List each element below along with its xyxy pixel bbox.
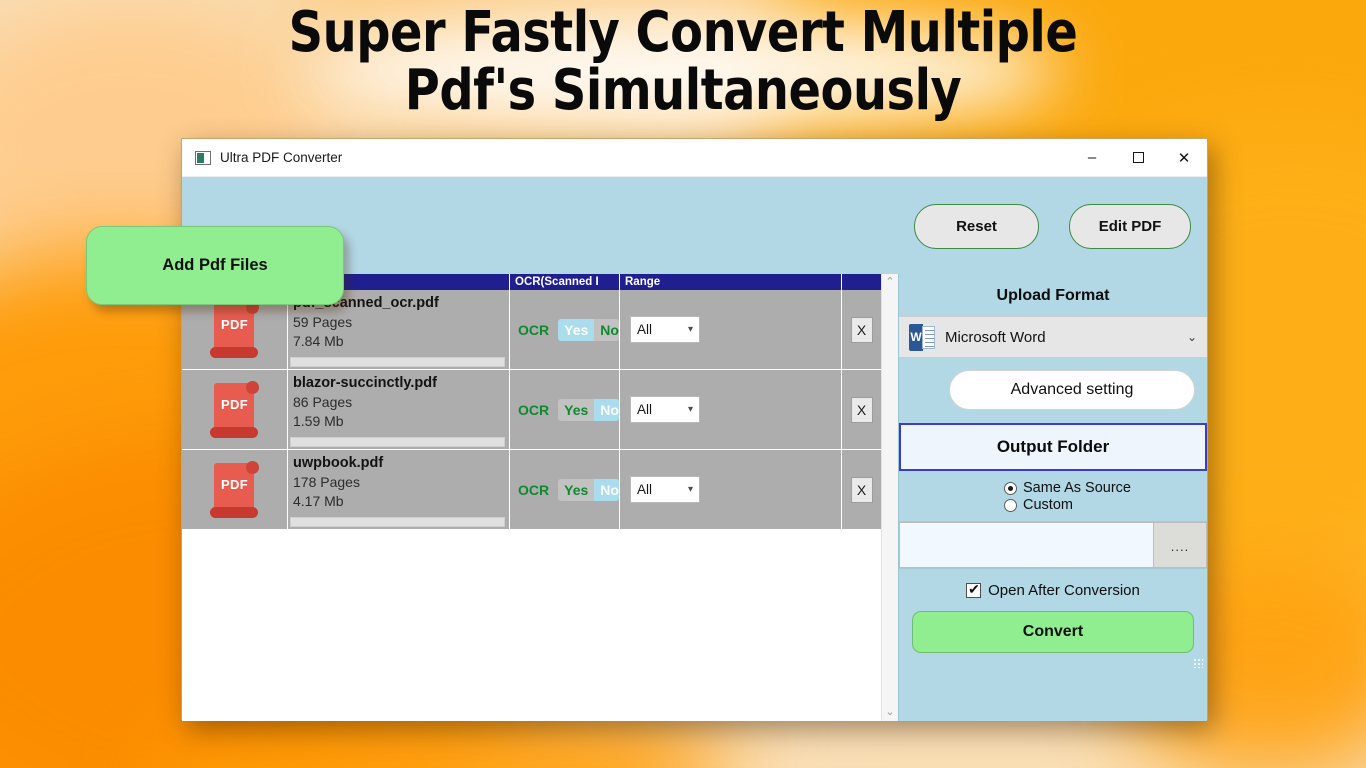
resize-grip[interactable] <box>899 653 1207 671</box>
table-row[interactable]: PDF blazor-succinctly.pdf 86 Pages 1.59 … <box>182 370 881 450</box>
file-info-hscrollbar[interactable] <box>290 357 505 367</box>
convert-button[interactable]: Convert <box>912 611 1194 653</box>
ocr-toggle[interactable]: Yes No <box>558 479 619 501</box>
radio-custom-label: Custom <box>1023 497 1073 513</box>
chevron-down-icon: ⌄ <box>1187 330 1197 344</box>
file-info-hscrollbar[interactable] <box>290 437 505 447</box>
radio-same-label: Same As Source <box>1023 480 1131 496</box>
ocr-no-option[interactable]: No <box>594 399 619 421</box>
output-path-row: .... <box>899 521 1207 569</box>
app-window: Ultra PDF Converter – ✕ Add Pdf Files Re… <box>181 138 1208 720</box>
upload-format-title: Upload Format <box>899 274 1207 316</box>
ocr-cell: OCR Yes No <box>510 290 620 369</box>
ocr-label: OCR <box>518 322 549 338</box>
range-select[interactable]: All ▾ <box>630 396 700 423</box>
pdf-thumbnail-cell: PDF <box>182 450 288 529</box>
ocr-cell: OCR Yes No <box>510 370 620 449</box>
file-pages: 178 Pages <box>293 473 360 492</box>
settings-panel: Upload Format W Microsoft Word ⌄ Advance… <box>898 274 1207 721</box>
range-cell: All ▾ <box>620 450 842 529</box>
window-body: PDF Files FileInfo OCR(Scanned I Range P… <box>182 274 1207 721</box>
ocr-label: OCR <box>518 402 549 418</box>
browse-folder-button[interactable]: .... <box>1154 522 1207 568</box>
window-controls: – ✕ <box>1069 139 1207 177</box>
chevron-down-icon: ▾ <box>688 404 693 415</box>
title-bar: Ultra PDF Converter – ✕ <box>182 139 1207 177</box>
scroll-up-icon[interactable]: ⌃ <box>885 277 894 288</box>
column-header-range[interactable]: Range <box>620 274 842 290</box>
file-pages: 59 Pages <box>293 313 352 332</box>
checkbox-open-after-conversion[interactable] <box>966 583 981 598</box>
word-icon: W <box>909 324 935 351</box>
advanced-setting-button[interactable]: Advanced setting <box>949 370 1195 410</box>
file-grid: PDF Files FileInfo OCR(Scanned I Range P… <box>182 274 881 721</box>
ocr-toggle[interactable]: Yes No <box>558 399 619 421</box>
upload-format-select[interactable]: W Microsoft Word ⌄ <box>899 316 1207 358</box>
radio-icon-unselected[interactable] <box>1004 499 1017 512</box>
remove-row-button[interactable]: X <box>851 397 873 423</box>
chevron-down-icon: ▾ <box>688 484 693 495</box>
pdf-thumbnail-cell: PDF <box>182 370 288 449</box>
scroll-down-icon[interactable]: ⌄ <box>885 707 894 718</box>
upload-format-value: Microsoft Word <box>945 329 1046 346</box>
toolbar: Add Pdf Files Reset Edit PDF <box>182 177 1207 274</box>
range-cell: All ▾ <box>620 370 842 449</box>
pdf-icon-label: PDF <box>208 397 262 412</box>
range-value: All <box>637 402 652 417</box>
pdf-file-icon: PDF <box>208 459 262 521</box>
row-actions-cell: X <box>842 370 881 449</box>
column-header-actions[interactable] <box>842 274 881 290</box>
output-path-input[interactable] <box>899 522 1154 568</box>
column-header-ocr[interactable]: OCR(Scanned I <box>510 274 620 290</box>
file-list-scrollbar[interactable]: ⌃ ⌄ <box>881 274 898 721</box>
ocr-yes-option[interactable]: Yes <box>558 399 594 421</box>
radio-custom[interactable]: Custom <box>1004 497 1207 513</box>
file-name: uwpbook.pdf <box>293 455 383 471</box>
file-info-hscrollbar[interactable] <box>290 517 505 527</box>
file-size: 7.84 Mb <box>293 332 344 351</box>
pdf-icon-label: PDF <box>208 317 262 332</box>
pdf-file-icon: PDF <box>208 299 262 361</box>
radio-icon-selected[interactable] <box>1004 482 1017 495</box>
add-pdf-files-button[interactable]: Add Pdf Files <box>86 226 344 305</box>
chevron-down-icon: ▾ <box>688 324 693 335</box>
output-folder-radio-group: Same As Source Custom <box>899 471 1207 521</box>
ocr-yes-option[interactable]: Yes <box>558 319 594 341</box>
app-icon <box>195 151 211 165</box>
maximize-icon[interactable] <box>1115 139 1161 177</box>
range-cell: All ▾ <box>620 290 842 369</box>
file-size: 4.17 Mb <box>293 492 344 511</box>
ocr-yes-option[interactable]: Yes <box>558 479 594 501</box>
file-list-area: PDF Files FileInfo OCR(Scanned I Range P… <box>182 274 898 721</box>
file-name: blazor-succinctly.pdf <box>293 375 437 391</box>
pdf-file-icon: PDF <box>208 379 262 441</box>
edit-pdf-button[interactable]: Edit PDF <box>1069 204 1191 249</box>
window-title: Ultra PDF Converter <box>220 150 342 165</box>
reset-button[interactable]: Reset <box>914 204 1039 249</box>
open-after-conversion-row[interactable]: Open After Conversion <box>899 569 1207 611</box>
advanced-setting-wrap: Advanced setting <box>899 358 1207 423</box>
range-value: All <box>637 322 652 337</box>
minimize-icon[interactable]: – <box>1069 139 1115 177</box>
ocr-cell: OCR Yes No <box>510 450 620 529</box>
output-folder-title[interactable]: Output Folder <box>899 423 1207 471</box>
convert-wrap: Convert <box>899 611 1207 653</box>
table-row[interactable]: PDF uwpbook.pdf 178 Pages 4.17 Mb OCR Ye… <box>182 450 881 530</box>
file-info-cell: uwpbook.pdf 178 Pages 4.17 Mb <box>288 450 510 529</box>
ocr-toggle[interactable]: Yes No <box>558 319 619 341</box>
close-icon[interactable]: ✕ <box>1161 139 1207 177</box>
ocr-no-option[interactable]: No <box>594 479 619 501</box>
open-after-conversion-label: Open After Conversion <box>988 582 1140 599</box>
ocr-no-option[interactable]: No <box>594 319 619 341</box>
range-value: All <box>637 482 652 497</box>
file-info-cell: blazor-succinctly.pdf 86 Pages 1.59 Mb <box>288 370 510 449</box>
range-select[interactable]: All ▾ <box>630 316 700 343</box>
row-actions-cell: X <box>842 290 881 369</box>
file-size: 1.59 Mb <box>293 412 344 431</box>
radio-same-as-source[interactable]: Same As Source <box>1004 480 1207 496</box>
pdf-icon-label: PDF <box>208 477 262 492</box>
remove-row-button[interactable]: X <box>851 477 873 503</box>
row-actions-cell: X <box>842 450 881 529</box>
ocr-label: OCR <box>518 482 549 498</box>
remove-row-button[interactable]: X <box>851 317 873 343</box>
file-pages: 86 Pages <box>293 393 352 412</box>
range-select[interactable]: All ▾ <box>630 476 700 503</box>
